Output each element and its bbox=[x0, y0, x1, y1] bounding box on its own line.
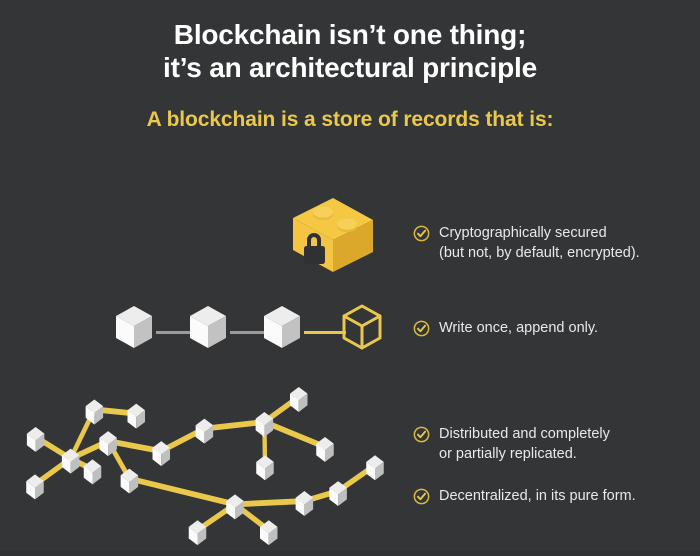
locked-brick-icon bbox=[285, 196, 377, 276]
bullet-text: Decentralized, in its pure form. bbox=[439, 486, 636, 506]
infographic-canvas: Blockchain isn’t one thing; it’s an arch… bbox=[0, 0, 700, 551]
bullet-item-write-once: Write once, append only. bbox=[413, 318, 598, 338]
chain-block-1 bbox=[116, 306, 152, 348]
decentralized-network-icon bbox=[0, 372, 400, 551]
check-circle-icon bbox=[413, 426, 430, 443]
check-circle-icon bbox=[413, 320, 430, 337]
page-title-line-1: Blockchain isn’t one thing; bbox=[0, 18, 700, 51]
chain-block-2 bbox=[190, 306, 226, 348]
chain-link-1 bbox=[156, 331, 192, 334]
bullet-item-decentralized: Decentralized, in its pure form. bbox=[413, 486, 636, 506]
bullet-text: Write once, append only. bbox=[439, 318, 598, 338]
block-chain-icon bbox=[110, 300, 382, 360]
bullet-item-distributed: Distributed and completely or partially … bbox=[413, 424, 610, 464]
bullet-text: Cryptographically secured (but not, by d… bbox=[439, 223, 640, 263]
bullet-text: Distributed and completely or partially … bbox=[439, 424, 610, 464]
check-circle-icon bbox=[413, 225, 430, 242]
page-subtitle: A blockchain is a store of records that … bbox=[0, 108, 700, 132]
check-circle-icon bbox=[413, 488, 430, 505]
chain-link-2 bbox=[230, 331, 266, 334]
chain-link-3 bbox=[304, 331, 346, 334]
chain-block-3 bbox=[264, 306, 300, 348]
page-title: Blockchain isn’t one thing; it’s an arch… bbox=[0, 18, 700, 84]
chain-block-4-gold bbox=[344, 306, 380, 348]
bullet-item-cryptographically-secured: Cryptographically secured (but not, by d… bbox=[413, 223, 640, 263]
page-title-line-2: it’s an architectural principle bbox=[0, 51, 700, 84]
